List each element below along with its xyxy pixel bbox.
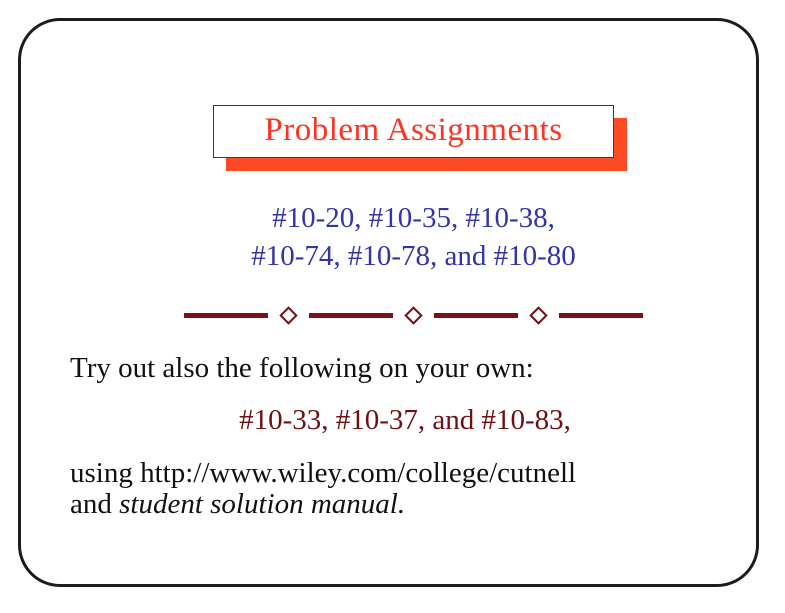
decorative-divider (21, 309, 785, 322)
extra-problems-line: #10-33, #10-37, and #10-83, (70, 405, 760, 436)
assignment-list: #10-20, #10-35, #10-38, #10-74, #10-78, … (21, 199, 785, 275)
title-box: Problem Assignments (213, 105, 614, 158)
divider-bar-icon (434, 313, 518, 318)
resource-url-line: using http://www.wiley.com/college/cutne… (70, 458, 760, 489)
slide-border-frame: Problem Assignments #10-20, #10-35, #10-… (18, 18, 759, 587)
manual-prefix: and (70, 488, 119, 520)
divider-diamond-icon (404, 306, 422, 324)
divider-bar-icon (184, 313, 268, 318)
assignment-line-1: #10-20, #10-35, #10-38, (21, 199, 785, 237)
body-text-block: Try out also the following on your own: … (70, 353, 760, 520)
body-intro-line: Try out also the following on your own: (70, 353, 760, 384)
manual-reference-line: and student solution manual. (70, 489, 760, 520)
manual-title: student solution manual. (119, 488, 405, 520)
divider-diamond-icon (279, 306, 297, 324)
title-block: Problem Assignments (213, 105, 627, 171)
page-title: Problem Assignments (264, 114, 562, 150)
assignment-line-2: #10-74, #10-78, and #10-80 (21, 237, 785, 275)
divider-diamond-icon (529, 306, 547, 324)
divider-bar-icon (309, 313, 393, 318)
divider-bar-icon (559, 313, 643, 318)
slide-canvas: Problem Assignments #10-20, #10-35, #10-… (0, 0, 785, 613)
